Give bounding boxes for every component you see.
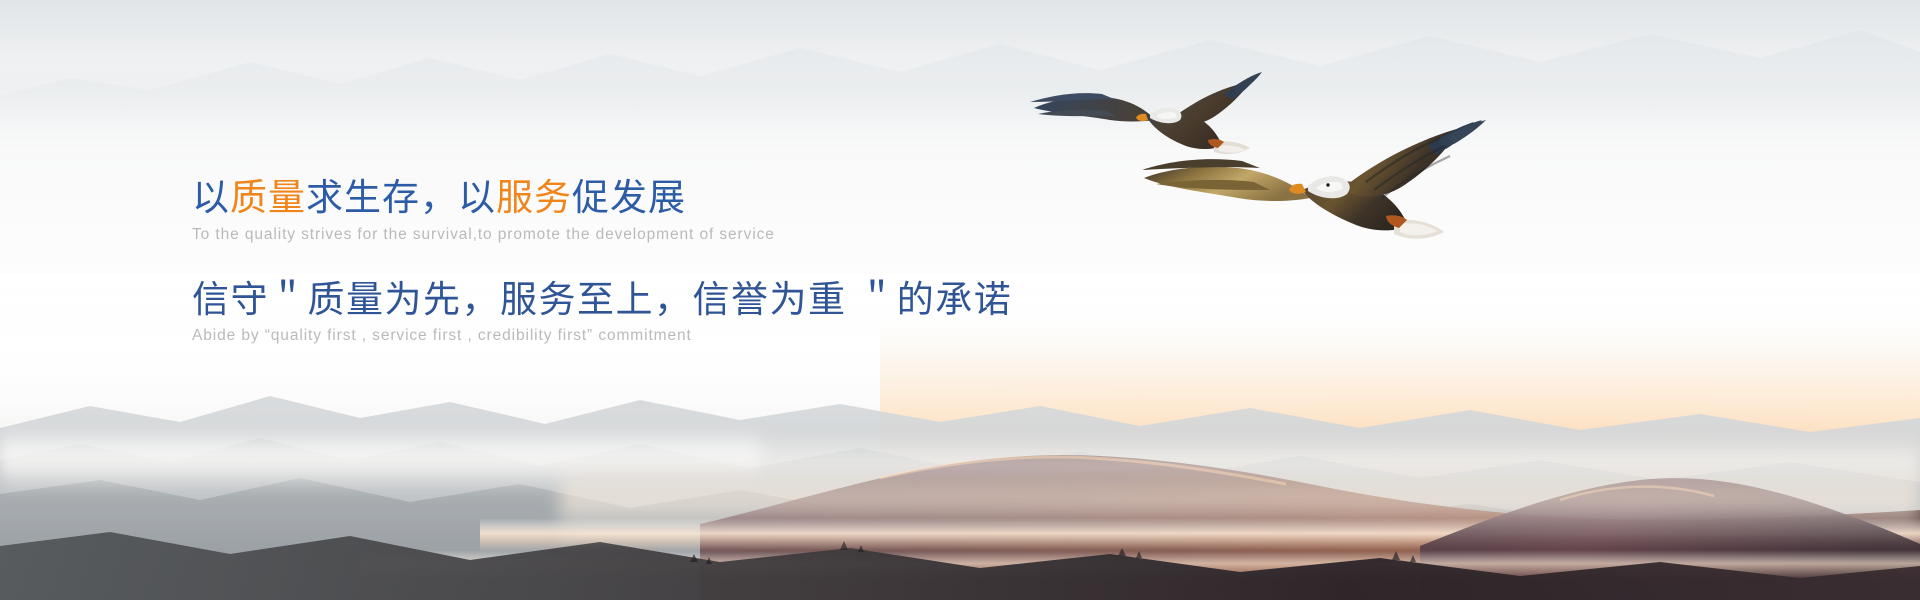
slogan-secondary-subtitle: Abide by “quality first , service first …: [192, 327, 1012, 345]
slogan-seg-3: 求生存，以: [306, 177, 496, 218]
slogan-seg-2: 质量: [230, 177, 306, 218]
slogan-block: 以质量求生存，以服务促发展 To the quality strives for…: [192, 176, 1012, 345]
eagle-small: [1030, 72, 1262, 154]
slogan-seg-4: 服务: [496, 177, 572, 218]
mountain-landscape: [0, 310, 1920, 600]
distant-ridge-silhouette: [0, 0, 1920, 150]
slogan-primary-headline: 以质量求生存，以服务促发展: [192, 176, 1012, 220]
slogan-seg-5: 促发展: [572, 177, 686, 218]
slogan-secondary-headline: 信守＂质量为先，服务至上，信誉为重 ＂的承诺: [192, 278, 1012, 322]
slogan-primary-subtitle: To the quality strives for the survival,…: [192, 226, 1012, 244]
slogan-seg-1: 以: [192, 177, 230, 218]
flying-eagles-group: [1010, 28, 1510, 258]
hero-banner: 以质量求生存，以服务促发展 To the quality strives for…: [0, 0, 1920, 600]
slogan-spacer: [192, 244, 1012, 278]
